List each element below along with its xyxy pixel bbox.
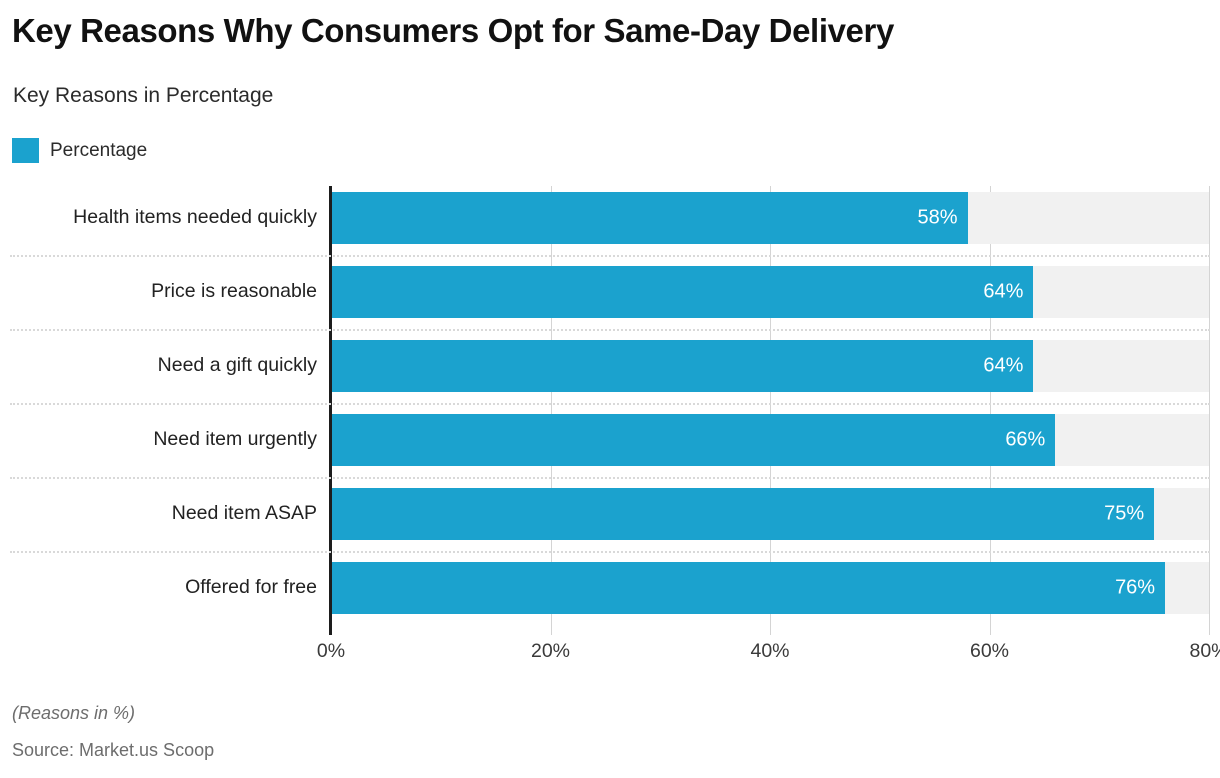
bar-value-label: 58% [918, 207, 958, 230]
chart-legend: Percentage [12, 138, 147, 163]
bar[interactable]: 64% [331, 266, 1033, 318]
row-separator [10, 329, 1210, 331]
legend-swatch-percentage [12, 138, 39, 163]
category-label: Price is reasonable [0, 280, 317, 303]
row-separator [10, 255, 1210, 257]
x-tick-label: 0% [317, 640, 345, 663]
value-axis-spine [329, 186, 332, 635]
row-separator [10, 477, 1210, 479]
chart-source: Source: Market.us Scoop [12, 740, 214, 761]
chart-footnote: (Reasons in %) [12, 703, 135, 724]
page-title: Key Reasons Why Consumers Opt for Same-D… [12, 12, 894, 50]
category-label: Need a gift quickly [0, 354, 317, 377]
gridline-vertical [1209, 186, 1210, 635]
bar-value-label: 64% [983, 281, 1023, 304]
chart-plot: Health items needed quicklyPrice is reas… [0, 186, 1220, 638]
x-tick-label: 40% [750, 640, 789, 663]
category-label: Offered for free [0, 576, 317, 599]
value-axis: 0%20%40%60%80% [0, 640, 1220, 670]
category-label: Need item urgently [0, 428, 317, 451]
bar[interactable]: 58% [331, 192, 968, 244]
x-tick-label: 60% [970, 640, 1009, 663]
x-tick-label: 80% [1189, 640, 1220, 663]
chart-subtitle: Key Reasons in Percentage [13, 84, 273, 108]
category-axis: Health items needed quicklyPrice is reas… [0, 186, 331, 638]
row-separator [10, 551, 1210, 553]
legend-label-percentage: Percentage [50, 140, 147, 162]
bar-value-label: 75% [1104, 503, 1144, 526]
bar[interactable]: 66% [331, 414, 1055, 466]
bar[interactable]: 64% [331, 340, 1033, 392]
bar-value-label: 76% [1115, 577, 1155, 600]
row-separator [10, 403, 1210, 405]
x-tick-label: 20% [531, 640, 570, 663]
category-label: Need item ASAP [0, 502, 317, 525]
bar[interactable]: 75% [331, 488, 1154, 540]
bar[interactable]: 76% [331, 562, 1165, 614]
bar-value-label: 64% [983, 355, 1023, 378]
bar-value-label: 66% [1005, 429, 1045, 452]
category-label: Health items needed quickly [0, 206, 317, 229]
plot-area: 58%64%64%66%75%76% [331, 186, 1209, 638]
